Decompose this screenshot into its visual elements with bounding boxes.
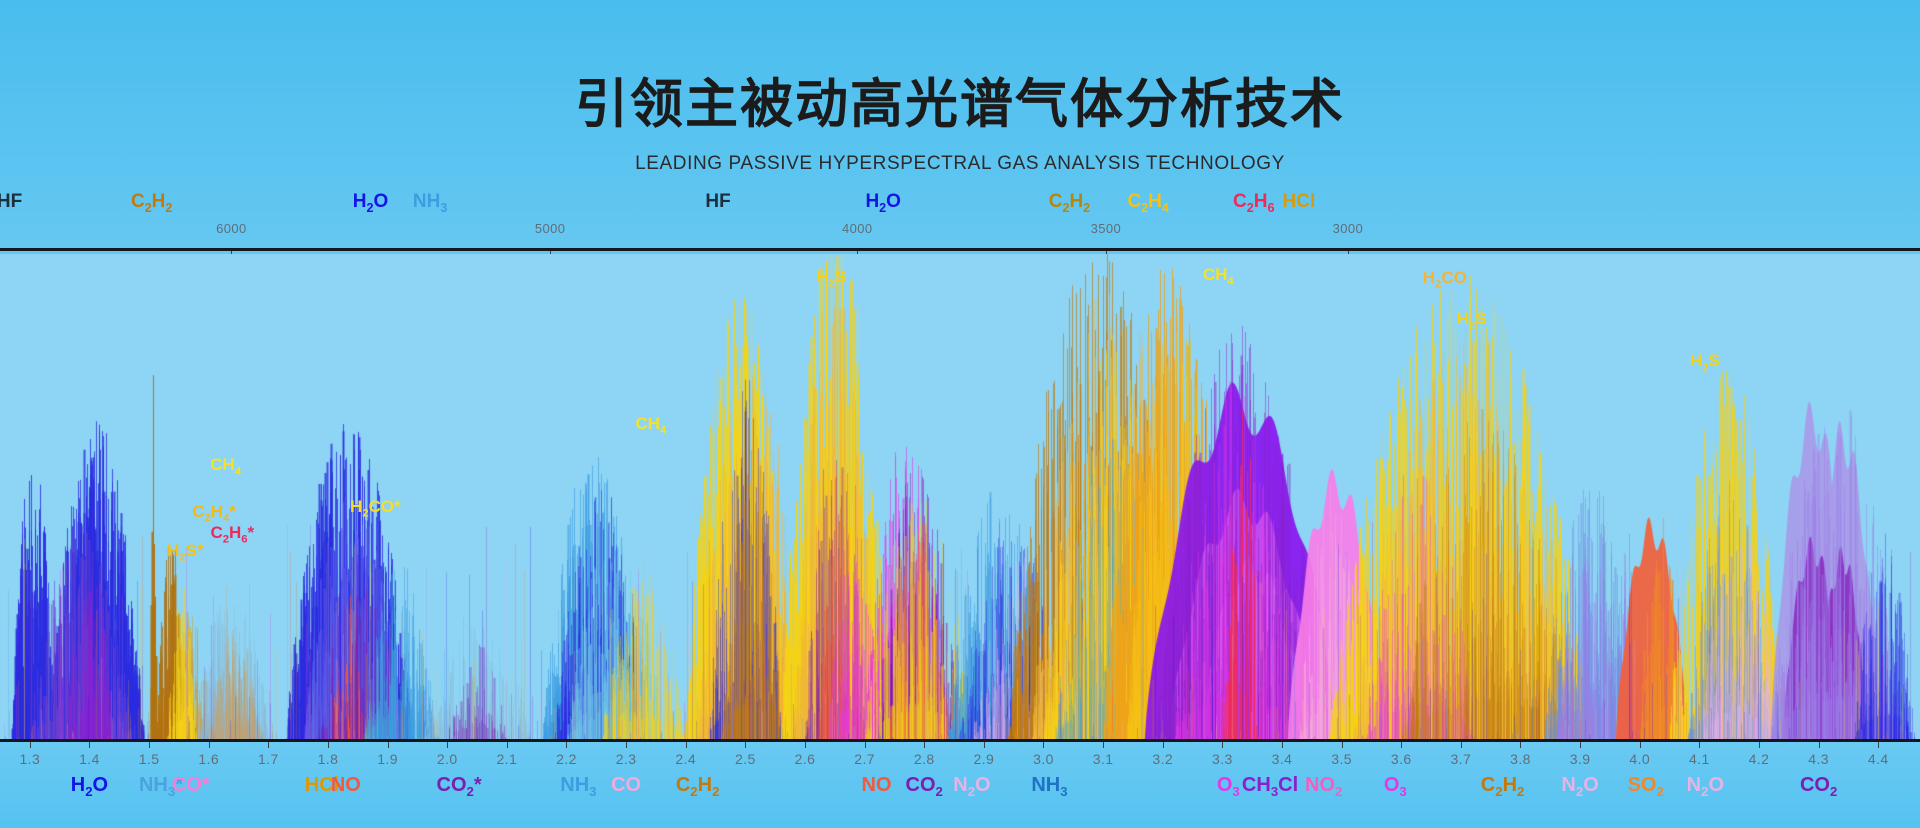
- bottom-tick-label: 2.6: [795, 751, 816, 767]
- bottom-tick-label: 3.9: [1570, 751, 1591, 767]
- bottom-gas-label: CH3Cl: [1242, 774, 1298, 799]
- bottom-gas-label: N2O: [1687, 774, 1724, 799]
- top-tick-label: 4000: [842, 221, 873, 236]
- top-tick-label: 3000: [1333, 221, 1364, 236]
- bottom-tick: [1043, 742, 1044, 748]
- bottom-tick: [1222, 742, 1223, 748]
- bottom-tick-label: 3.3: [1212, 751, 1233, 767]
- bottom-tick-label: 3.8: [1510, 751, 1531, 767]
- bottom-gas-label: N2O: [953, 774, 990, 799]
- top-gas-label: C2H2: [131, 191, 172, 215]
- bottom-tick: [507, 742, 508, 748]
- bottom-gas-label: CO: [611, 774, 641, 797]
- bottom-gas-label: SO2: [1628, 774, 1664, 799]
- bottom-tick: [805, 742, 806, 748]
- bottom-tick-label: 2.3: [616, 751, 637, 767]
- bottom-tick-label: 4.1: [1689, 751, 1710, 767]
- bottom-tick: [1342, 742, 1343, 748]
- bottom-gas-label: O3: [1384, 774, 1407, 799]
- bottom-tick: [388, 742, 389, 748]
- bottom-tick-label: 2.8: [914, 751, 935, 767]
- bottom-tick: [89, 742, 90, 748]
- bottom-tick-label: 4.2: [1749, 751, 1770, 767]
- bottom-tick-label: 4.3: [1808, 751, 1829, 767]
- bottom-tick-label: 2.7: [854, 751, 875, 767]
- bottom-tick-label: 3.0: [1033, 751, 1054, 767]
- bottom-tick-label: 2.0: [437, 751, 458, 767]
- top-axis-line: [0, 248, 1920, 251]
- bottom-tick-label: 1.8: [318, 751, 339, 767]
- bottom-tick: [268, 742, 269, 748]
- bottom-tick: [1819, 742, 1820, 748]
- bottom-gas-label: NH3: [1031, 774, 1067, 799]
- bottom-tick: [1699, 742, 1700, 748]
- spectrum-infographic: 引领主被动高光谱气体分析技术 LEADING PASSIVE HYPERSPEC…: [0, 0, 1920, 828]
- bottom-tick: [566, 742, 567, 748]
- top-gas-label: HF: [0, 191, 22, 213]
- bottom-tick-label: 3.6: [1391, 751, 1412, 767]
- bottom-gas-label: NO2: [1305, 774, 1342, 799]
- bottom-gas-label: NO: [862, 774, 892, 797]
- bottom-tick: [209, 742, 210, 748]
- bottom-gas-label: N2O: [1561, 774, 1598, 799]
- bottom-tick: [1103, 742, 1104, 748]
- bottom-tick-label: 3.2: [1152, 751, 1173, 767]
- bottom-gas-label: CO2*: [437, 774, 482, 799]
- bottom-tick: [30, 742, 31, 748]
- top-gas-label: H2O: [353, 191, 389, 215]
- bottom-wavelength-axis: 1.31.41.51.61.71.81.92.02.12.22.32.42.52…: [0, 742, 1920, 828]
- bottom-gas-label: CO2: [906, 774, 943, 799]
- bottom-tick-label: 2.1: [496, 751, 517, 767]
- header: 引领主被动高光谱气体分析技术 LEADING PASSIVE HYPERSPEC…: [0, 0, 1920, 196]
- bottom-gas-label: NO: [331, 774, 361, 797]
- bottom-tick: [149, 742, 150, 748]
- bottom-tick: [1878, 742, 1879, 748]
- bottom-tick-label: 4.4: [1868, 751, 1889, 767]
- page-subtitle: LEADING PASSIVE HYPERSPECTRAL GAS ANALYS…: [0, 153, 1920, 175]
- bottom-tick-label: 1.7: [258, 751, 279, 767]
- bottom-tick-label: 4.0: [1629, 751, 1650, 767]
- bottom-gas-label: C2H2: [1481, 774, 1525, 799]
- bottom-tick: [328, 742, 329, 748]
- bottom-tick: [1640, 742, 1641, 748]
- bottom-tick: [1401, 742, 1402, 748]
- bottom-tick-label: 1.4: [79, 751, 100, 767]
- bottom-tick: [1282, 742, 1283, 748]
- bottom-tick-label: 1.5: [139, 751, 160, 767]
- bottom-tick: [924, 742, 925, 748]
- bottom-tick: [1580, 742, 1581, 748]
- top-gas-label: NH3: [413, 191, 447, 215]
- bottom-tick: [1520, 742, 1521, 748]
- bottom-tick: [865, 742, 866, 748]
- bottom-tick: [984, 742, 985, 748]
- bottom-tick-label: 1.3: [19, 751, 40, 767]
- top-tick-label: 5000: [535, 221, 566, 236]
- bottom-gas-label: C2H2: [676, 774, 720, 799]
- bottom-tick: [686, 742, 687, 748]
- spectrum-plot: CH4C2H4*C2H6*H2S*H2CO*CH4H2SCH4H2COH2SH2…: [0, 254, 1920, 739]
- bottom-tick-label: 2.9: [974, 751, 995, 767]
- bottom-tick-label: 3.5: [1331, 751, 1352, 767]
- bottom-tick-label: 1.9: [377, 751, 398, 767]
- top-gas-label: HCl: [1283, 191, 1316, 213]
- bottom-gas-label: CO*: [172, 774, 210, 797]
- bottom-tick-label: 3.4: [1272, 751, 1293, 767]
- bottom-tick-label: 2.5: [735, 751, 756, 767]
- bottom-tick: [745, 742, 746, 748]
- top-gas-label: C2H2: [1049, 191, 1090, 215]
- bottom-gas-label: H2O: [71, 774, 108, 799]
- spectrum-canvas: [0, 254, 1920, 739]
- top-gas-label: HF: [705, 191, 730, 213]
- page-title: 引领主被动高光谱气体分析技术: [0, 62, 1920, 138]
- bottom-tick-label: 2.4: [675, 751, 696, 767]
- bottom-gas-label: O3: [1217, 774, 1240, 799]
- top-gas-label: H2O: [865, 191, 901, 215]
- top-tick-label: 3500: [1091, 221, 1122, 236]
- bottom-tick-label: 3.7: [1451, 751, 1472, 767]
- top-tick-label: 6000: [216, 221, 247, 236]
- bottom-tick-label: 3.1: [1093, 751, 1114, 767]
- bottom-tick: [1163, 742, 1164, 748]
- top-gas-label: C2H4: [1127, 191, 1168, 215]
- bottom-tick: [626, 742, 627, 748]
- bottom-gas-label: NH3: [560, 774, 596, 799]
- bottom-tick: [1461, 742, 1462, 748]
- bottom-tick-label: 2.2: [556, 751, 577, 767]
- bottom-gas-label: CO2: [1800, 774, 1837, 799]
- bottom-tick: [447, 742, 448, 748]
- top-gas-label: C2H6: [1233, 191, 1274, 215]
- bottom-tick: [1759, 742, 1760, 748]
- top-wavenumber-axis: 60005000400035003000 HFC2H2H2ONH3HFH2OC2…: [0, 196, 1920, 254]
- bottom-tick-label: 1.6: [198, 751, 219, 767]
